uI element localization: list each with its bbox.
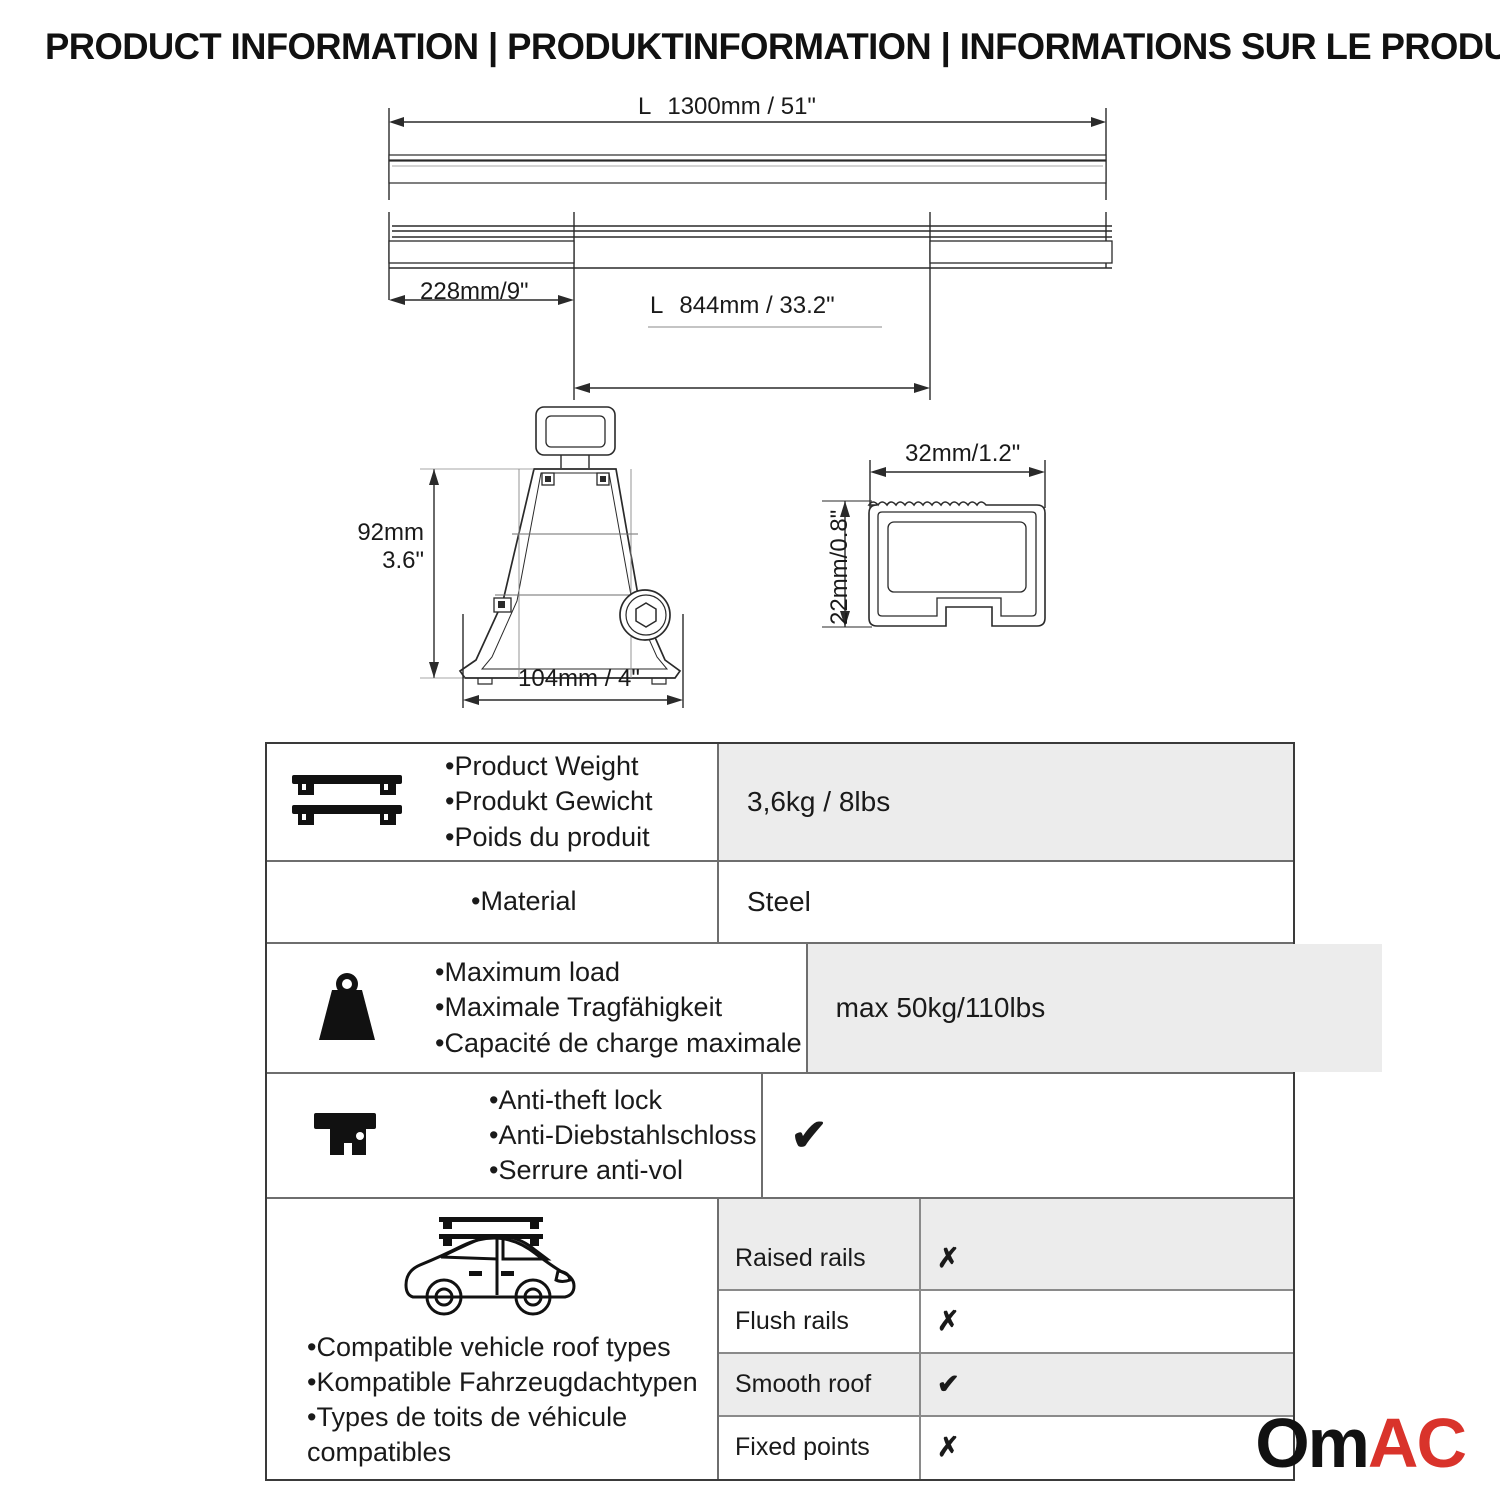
label-line: •Anti-Diebstahlschloss — [489, 1118, 757, 1153]
label-line: •Anti-theft lock — [489, 1083, 757, 1118]
foot-height-in: 3.6" — [357, 547, 424, 575]
label-line: •Types de toits de véhicule — [307, 1400, 698, 1435]
bar-length-dimension: L1300mm / 51" — [638, 93, 816, 121]
option-mark: ✗ — [919, 1228, 1293, 1289]
compat-option-raised-rails[interactable]: Raised rails ✗ — [719, 1228, 1293, 1291]
label-line: •Maximale Tragfähigkeit — [435, 990, 802, 1025]
lock-icon — [267, 1074, 427, 1197]
option-mark: ✗ — [919, 1417, 1293, 1479]
label-line: •Poids du produit — [445, 820, 653, 855]
compat-option-smooth-roof[interactable]: Smooth roof ✔ — [719, 1354, 1293, 1417]
foot-height-mm: 92mm — [357, 519, 424, 547]
spacer-value — [919, 1199, 1293, 1228]
compatibility-labels-area: •Compatible vehicle roof types •Kompatib… — [267, 1199, 717, 1479]
logo-text-dark: Om — [1255, 1408, 1368, 1478]
option-label: Smooth roof — [719, 1370, 919, 1399]
span-dimension: L844mm / 33.2" — [650, 292, 835, 320]
label-line: •Produkt Gewicht — [445, 784, 653, 819]
bar-length-value: 1300mm / 51" — [667, 93, 816, 120]
option-label: Fixed points — [719, 1433, 919, 1462]
span-marker: L — [650, 292, 663, 319]
product-information-page: PRODUCT INFORMATION | PRODUKTINFORMATION… — [0, 0, 1500, 1500]
table-row-material: •Material Steel — [267, 862, 1293, 944]
compat-option-flush-rails[interactable]: Flush rails ✗ — [719, 1291, 1293, 1354]
option-mark: ✗ — [919, 1291, 1293, 1352]
label-line: compatibles — [307, 1435, 698, 1470]
profile-height-dimension: 22mm/0.8" — [826, 510, 854, 625]
anti-theft-lock-value: ✔ — [761, 1074, 1337, 1197]
maximum-load-labels: •Maximum load •Maximale Tragfähigkeit •C… — [427, 944, 806, 1072]
label-line: •Capacité de charge maximale — [435, 1026, 802, 1061]
foot-width-dimension: 104mm / 4" — [518, 665, 640, 693]
product-weight-value: 3,6kg / 8lbs — [717, 744, 1293, 860]
label-line: •Maximum load — [435, 955, 802, 990]
label-line: •Compatible vehicle roof types — [307, 1330, 698, 1365]
product-weight-labels: •Product Weight •Produkt Gewicht •Poids … — [427, 744, 717, 860]
weight-icon — [267, 944, 427, 1072]
logo-text-red: AC — [1368, 1408, 1465, 1478]
label-line: •Product Weight — [445, 749, 653, 784]
compat-option-fixed-points[interactable]: Fixed points ✗ — [719, 1417, 1293, 1479]
foot-offset-dimension: 228mm/9" — [420, 278, 529, 306]
table-row-compatibility: •Compatible vehicle roof types •Kompatib… — [267, 1199, 1293, 1479]
length-marker: L — [638, 93, 651, 120]
compatibility-options: Raised rails ✗ Flush rails ✗ Smooth roof… — [717, 1199, 1293, 1479]
maximum-load-value: max 50kg/110lbs — [806, 944, 1382, 1072]
label-line: •Kompatible Fahrzeugdachtypen — [307, 1365, 698, 1400]
span-value: 844mm / 33.2" — [679, 292, 834, 319]
label-line: •Serrure anti-vol — [489, 1153, 757, 1188]
compat-top-spacer — [719, 1199, 1293, 1228]
car-with-rack-icon — [397, 1209, 587, 1324]
option-label: Raised rails — [719, 1244, 919, 1273]
table-row-anti-theft-lock: •Anti-theft lock •Anti-Diebstahlschloss … — [267, 1074, 1293, 1199]
technical-drawing-area: L1300mm / 51" 228mm/9" L844mm / 33.2" 92… — [0, 0, 1500, 740]
option-label: Flush rails — [719, 1307, 919, 1336]
table-row-product-weight: •Product Weight •Produkt Gewicht •Poids … — [267, 744, 1293, 862]
table-row-maximum-load: •Maximum load •Maximale Tragfähigkeit •C… — [267, 944, 1293, 1074]
compatibility-labels: •Compatible vehicle roof types •Kompatib… — [267, 1330, 698, 1470]
material-value: Steel — [717, 862, 1293, 942]
material-icon-placeholder — [267, 862, 427, 942]
profile-width-dimension: 32mm/1.2" — [905, 440, 1020, 468]
checkmark-icon: ✔ — [791, 1114, 828, 1158]
material-labels: •Material — [427, 862, 717, 942]
specification-table: •Product Weight •Produkt Gewicht •Poids … — [265, 742, 1295, 1481]
crossbars-icon — [267, 744, 427, 860]
anti-theft-lock-labels: •Anti-theft lock •Anti-Diebstahlschloss … — [427, 1074, 761, 1197]
omac-logo: OmAC — [1255, 1411, 1465, 1475]
label-line: •Material — [471, 884, 576, 919]
option-mark: ✔ — [919, 1354, 1293, 1415]
